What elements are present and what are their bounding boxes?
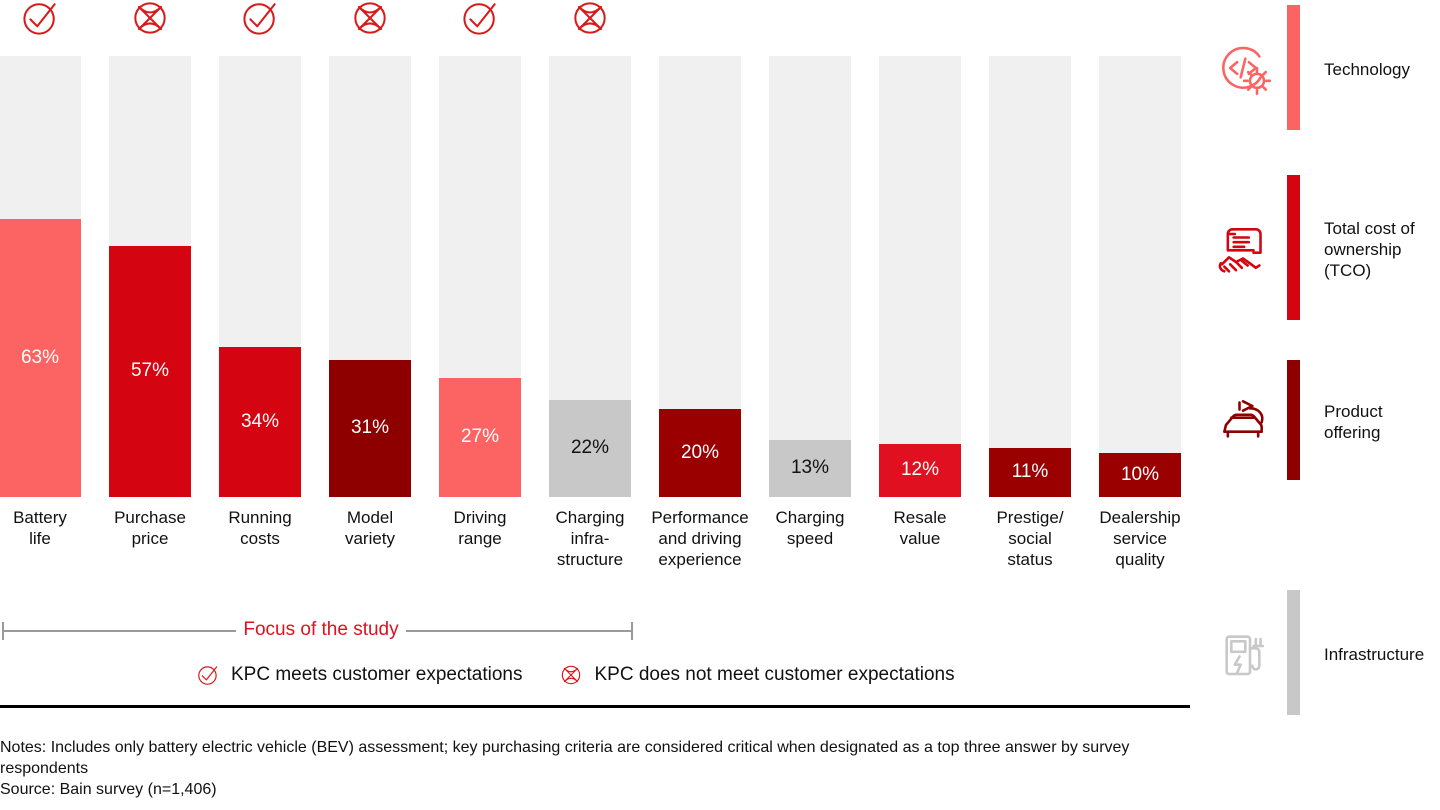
bar-track <box>1099 56 1181 497</box>
bar-fill[interactable]: 13% <box>769 440 851 497</box>
category-label: Dealership service quality <box>1089 507 1191 570</box>
category-label: Model variety <box>319 507 421 549</box>
bar-track <box>989 56 1071 497</box>
bar-value-label: 31% <box>351 418 389 437</box>
bar-column[interactable]: 31%Model variety <box>329 56 411 497</box>
bar-value-label: 12% <box>901 460 939 479</box>
bar-value-label: 13% <box>791 458 829 477</box>
tco-icon <box>1215 220 1271 276</box>
kpc-legend-item: KPC does not meet customer expectations <box>558 662 954 688</box>
category-label: Purchase price <box>99 507 201 549</box>
technology-icon <box>1215 40 1271 96</box>
legend-label: Infrastructure <box>1324 642 1424 665</box>
legend-color-swatch <box>1287 360 1300 480</box>
kpc-not-meets-icon <box>568 0 612 40</box>
chart-page: 63%Battery life57%Purchase price34%Runni… <box>0 0 1440 810</box>
infrastructure-icon <box>1215 625 1271 681</box>
kpc-legend: KPC meets customer expectationsKPC does … <box>195 662 955 688</box>
bar-column[interactable]: 57%Purchase price <box>109 56 191 497</box>
bar-column[interactable]: 20%Performance and driving experience <box>659 56 741 497</box>
bar-fill[interactable]: 11% <box>989 448 1071 497</box>
x-circle-icon <box>568 0 612 40</box>
x-axis-baseline <box>0 705 1190 708</box>
legend-item[interactable]: Infrastructure <box>1215 590 1424 715</box>
legend-label: Total cost of ownership (TCO) <box>1324 216 1415 281</box>
focus-bracket-right-line <box>406 630 632 632</box>
check-circle-icon <box>18 0 62 40</box>
bar-fill[interactable]: 12% <box>879 444 961 497</box>
kpc-legend-item: KPC meets customer expectations <box>195 662 522 688</box>
bar-fill[interactable]: 63% <box>0 219 81 497</box>
focus-bracket-left-cap <box>2 622 4 640</box>
bar-fill[interactable]: 57% <box>109 246 191 497</box>
notes-line-1: Notes: Includes only battery electric ve… <box>0 737 1440 758</box>
bar-track <box>769 56 851 497</box>
bar-value-label: 10% <box>1121 465 1159 484</box>
check-circle-icon <box>195 662 221 688</box>
kpc-meets-icon <box>238 0 282 40</box>
kpc-legend-label: KPC does not meet customer expectations <box>594 664 954 686</box>
legend-color-swatch <box>1287 590 1300 715</box>
notes-source-line: Source: Bain survey (n=1,406) <box>0 779 1440 800</box>
focus-bracket-left-line <box>2 630 236 632</box>
legend-item[interactable]: Technology <box>1215 5 1410 130</box>
bar-column[interactable]: 10%Dealership service quality <box>1099 56 1181 497</box>
footnotes: Notes: Includes only battery electric ve… <box>0 737 1440 800</box>
bar-fill[interactable]: 34% <box>219 347 301 497</box>
kpc-meets-icon <box>458 0 502 40</box>
bar-value-label: 27% <box>461 427 499 446</box>
bar-column[interactable]: 12%Resale value <box>879 56 961 497</box>
technology-icon <box>1215 40 1271 96</box>
notes-line-2: respondents <box>0 758 1440 779</box>
kpc-legend-label: KPC meets customer expectations <box>231 664 522 686</box>
check-circle-icon <box>238 0 282 40</box>
bar-fill[interactable]: 22% <box>549 400 631 497</box>
bar-fill[interactable]: 31% <box>329 360 411 497</box>
bar-value-label: 57% <box>131 361 169 380</box>
x-circle-icon <box>348 0 392 40</box>
legend-color-swatch <box>1287 175 1300 320</box>
check-circle-icon <box>195 662 221 688</box>
bar-fill[interactable]: 10% <box>1099 453 1181 497</box>
category-legend: TechnologyTotal cost of ownership (TCO)P… <box>1215 0 1440 715</box>
bar-value-label: 34% <box>241 412 279 431</box>
category-label: Charging speed <box>759 507 861 549</box>
legend-item[interactable]: Product offering <box>1215 360 1383 480</box>
category-label: Charging infra- structure <box>539 507 641 570</box>
bar-value-label: 63% <box>21 348 59 367</box>
tco-icon <box>1215 220 1271 276</box>
category-label: Running costs <box>209 507 311 549</box>
bar-column[interactable]: 22%Charging infra- structure <box>549 56 631 497</box>
bar-fill[interactable]: 20% <box>659 409 741 497</box>
legend-item[interactable]: Total cost of ownership (TCO) <box>1215 175 1415 320</box>
focus-bracket-right-cap <box>631 622 633 640</box>
category-label: Resale value <box>869 507 971 549</box>
bar-chart-plot: 63%Battery life57%Purchase price34%Runni… <box>0 0 1200 600</box>
legend-label: Technology <box>1324 57 1410 80</box>
category-label: Performance and driving experience <box>649 507 751 570</box>
product-offering-icon <box>1215 392 1271 448</box>
focus-of-study-bracket: Focus of the study <box>0 618 700 644</box>
kpc-not-meets-icon <box>348 0 392 40</box>
bar-column[interactable]: 11%Prestige/ social status <box>989 56 1071 497</box>
bar-column[interactable]: 27%Driving range <box>439 56 521 497</box>
kpc-not-meets-icon <box>128 0 172 40</box>
category-label: Battery life <box>0 507 91 549</box>
bar-column[interactable]: 13%Charging speed <box>769 56 851 497</box>
category-label: Prestige/ social status <box>979 507 1081 570</box>
x-circle-icon <box>558 662 584 688</box>
bar-fill[interactable]: 27% <box>439 378 521 497</box>
bar-column[interactable]: 34%Running costs <box>219 56 301 497</box>
product-offering-icon <box>1215 392 1271 448</box>
bar-column[interactable]: 63%Battery life <box>0 56 81 497</box>
kpc-meets-icon <box>18 0 62 40</box>
bar-value-label: 11% <box>1012 462 1049 481</box>
infrastructure-icon <box>1215 625 1271 681</box>
bar-track <box>879 56 961 497</box>
x-circle-icon <box>128 0 172 40</box>
legend-label: Product offering <box>1324 399 1383 443</box>
focus-of-study-label: Focus of the study <box>236 618 406 642</box>
category-label: Driving range <box>429 507 531 549</box>
bar-value-label: 22% <box>571 438 609 457</box>
bar-value-label: 20% <box>681 443 719 462</box>
legend-color-swatch <box>1287 5 1300 130</box>
check-circle-icon <box>458 0 502 40</box>
x-circle-icon <box>558 662 584 688</box>
